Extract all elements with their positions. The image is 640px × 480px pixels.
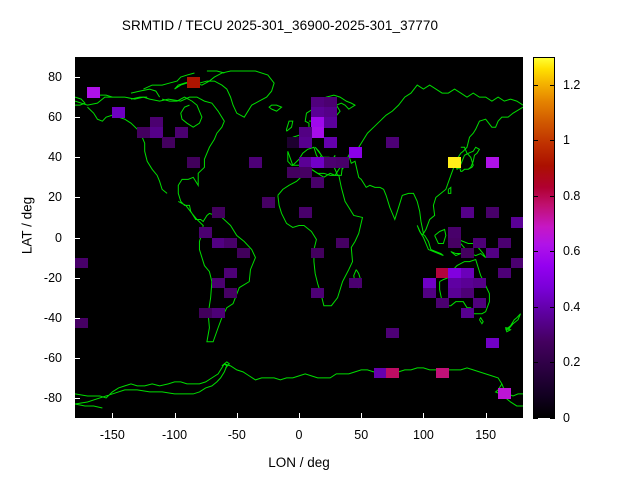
x-tick-mark xyxy=(175,413,176,418)
colorbar-tick-mark xyxy=(533,196,538,197)
heatmap-cell xyxy=(486,207,499,218)
heatmap-cell xyxy=(150,117,163,128)
heatmap-cell xyxy=(498,268,511,279)
heatmap-cell xyxy=(75,258,88,269)
heatmap-cell xyxy=(311,127,324,138)
heatmap-cell xyxy=(311,157,324,168)
heatmap-cell xyxy=(75,318,88,329)
heatmap-cell xyxy=(311,288,324,299)
heatmap-cell xyxy=(299,137,312,148)
colorbar-tick-mark xyxy=(550,196,555,197)
heatmap-cell xyxy=(262,197,275,208)
heatmap-cell xyxy=(112,107,125,118)
heatmap-cell xyxy=(473,278,486,289)
heatmap-cell xyxy=(299,167,312,178)
heatmap-cell xyxy=(511,217,523,228)
x-tick-label: -150 xyxy=(82,428,142,442)
heatmap-cell xyxy=(324,157,337,168)
heatmap-cell xyxy=(436,298,449,309)
heatmap-cell xyxy=(212,238,225,249)
y-tick-mark xyxy=(75,117,80,118)
heatmap-cell xyxy=(473,238,486,249)
heatmap-cell xyxy=(448,288,461,299)
x-tick-label: 0 xyxy=(269,428,329,442)
heatmap-cell xyxy=(473,298,486,309)
y-tick-label: -80 xyxy=(0,391,62,405)
colorbar-tick-mark xyxy=(533,85,538,86)
heatmap-cell xyxy=(448,227,461,238)
heatmap-cell xyxy=(324,107,337,118)
heatmap-cell xyxy=(199,308,212,319)
x-tick-mark xyxy=(299,413,300,418)
heatmap-cell xyxy=(212,308,225,319)
heatmap-cell xyxy=(311,177,324,188)
heatmap-cell xyxy=(386,368,399,379)
colorbar-tick-mark xyxy=(533,251,538,252)
colorbar-tick-label: 0.6 xyxy=(563,244,580,258)
x-tick-label: 100 xyxy=(393,428,453,442)
y-tick-mark xyxy=(75,318,80,319)
heatmap-cell xyxy=(436,368,449,379)
heatmap-cell xyxy=(299,157,312,168)
heatmap-cell xyxy=(448,238,461,249)
colorbar-tick-mark xyxy=(533,140,538,141)
heatmap-cell xyxy=(461,207,474,218)
y-tick-mark xyxy=(75,398,80,399)
colorbar-tick-mark xyxy=(550,307,555,308)
heatmap-cell xyxy=(150,127,163,138)
colorbar-tick-label: 0.8 xyxy=(563,189,580,203)
y-tick-mark xyxy=(75,157,80,158)
heatmap-cell xyxy=(299,207,312,218)
heatmap-cell xyxy=(287,137,300,148)
colorbar: 00.20.40.60.811.2 xyxy=(533,57,555,418)
heatmap-cell xyxy=(486,157,499,168)
colorbar-tick-mark xyxy=(550,140,555,141)
heatmap-cell xyxy=(486,248,499,259)
y-tick-mark xyxy=(75,278,80,279)
x-tick-mark xyxy=(423,413,424,418)
colorbar-tick-mark xyxy=(550,362,555,363)
y-tick-label: 40 xyxy=(0,150,62,164)
heatmap-cell xyxy=(448,268,461,279)
heatmap-cell xyxy=(187,157,200,168)
srmtid-tecu-global-map: SRMTID / TECU 2025-301_36900-2025-301_37… xyxy=(0,0,640,480)
y-axis-title: LAT / deg xyxy=(20,166,35,286)
chart-title: SRMTID / TECU 2025-301_36900-2025-301_37… xyxy=(0,18,560,33)
y-tick-mark xyxy=(75,238,80,239)
heatmap-cell xyxy=(212,207,225,218)
heatmap-cell xyxy=(224,238,237,249)
x-tick-mark xyxy=(486,413,487,418)
x-tick-label: 50 xyxy=(331,428,391,442)
heatmap-cell xyxy=(175,127,188,138)
heatmap-cell xyxy=(237,248,250,259)
heatmap-cell xyxy=(212,278,225,289)
y-tick-label: 60 xyxy=(0,110,62,124)
heatmap-cell xyxy=(461,268,474,279)
heatmap-cell xyxy=(137,127,150,138)
colorbar-tick-label: 1.2 xyxy=(563,78,580,92)
y-tick-label: 80 xyxy=(0,70,62,84)
heatmap-cell xyxy=(199,227,212,238)
colorbar-tick-label: 0.4 xyxy=(563,300,580,314)
y-tick-mark xyxy=(75,358,80,359)
heatmap-cell xyxy=(187,77,200,88)
colorbar-tick-mark xyxy=(533,418,538,419)
colorbar-tick-mark xyxy=(533,307,538,308)
x-tick-mark xyxy=(237,413,238,418)
heatmap-cell xyxy=(486,338,499,349)
heatmap-cell xyxy=(498,388,511,399)
heatmap-cell xyxy=(311,117,324,128)
colorbar-tick-mark xyxy=(550,85,555,86)
heatmap-cell xyxy=(336,238,349,249)
heatmap-cell xyxy=(349,147,362,158)
x-tick-label: 150 xyxy=(456,428,516,442)
heatmap-cell xyxy=(224,288,237,299)
x-tick-label: -100 xyxy=(145,428,205,442)
heatmap-cell xyxy=(448,157,461,168)
heatmap-cell xyxy=(87,87,100,98)
y-tick-mark xyxy=(75,77,80,78)
heatmap-cell xyxy=(511,258,523,269)
heatmap-cell xyxy=(386,137,399,148)
y-tick-label: -60 xyxy=(0,351,62,365)
x-axis-title: LON / deg xyxy=(75,455,523,470)
heatmap-cell xyxy=(299,127,312,138)
x-tick-mark xyxy=(361,413,362,418)
heatmap-cell xyxy=(324,117,337,128)
heatmap-cell xyxy=(461,308,474,319)
colorbar-gradient xyxy=(533,57,555,418)
heatmap-cell xyxy=(224,268,237,279)
heatmap-cell xyxy=(436,268,449,279)
heatmap-cell xyxy=(349,278,362,289)
heatmap-cell xyxy=(498,238,511,249)
heatmap-cell xyxy=(374,368,387,379)
heatmap-cell xyxy=(162,137,175,148)
heatmap-cell xyxy=(311,248,324,259)
heatmap-cell xyxy=(386,328,399,339)
heatmap-cell xyxy=(287,167,300,178)
colorbar-tick-label: 0.2 xyxy=(563,355,580,369)
heatmap-cell xyxy=(311,107,324,118)
x-tick-label: -50 xyxy=(207,428,267,442)
map-plot-area[interactable] xyxy=(75,57,523,418)
colorbar-tick-mark xyxy=(533,362,538,363)
heatmap-cell xyxy=(461,248,474,259)
colorbar-tick-label: 0 xyxy=(563,411,570,425)
y-tick-label: -40 xyxy=(0,311,62,325)
heatmap-tile-layer xyxy=(75,57,523,418)
colorbar-tick-label: 1 xyxy=(563,133,570,147)
y-tick-mark xyxy=(75,197,80,198)
heatmap-cell xyxy=(336,157,349,168)
heatmap-cell xyxy=(423,288,436,299)
colorbar-tick-mark xyxy=(550,251,555,252)
heatmap-cell xyxy=(461,288,474,299)
x-tick-mark xyxy=(112,413,113,418)
heatmap-cell xyxy=(324,137,337,148)
colorbar-tick-mark xyxy=(550,418,555,419)
heatmap-cell xyxy=(249,157,262,168)
